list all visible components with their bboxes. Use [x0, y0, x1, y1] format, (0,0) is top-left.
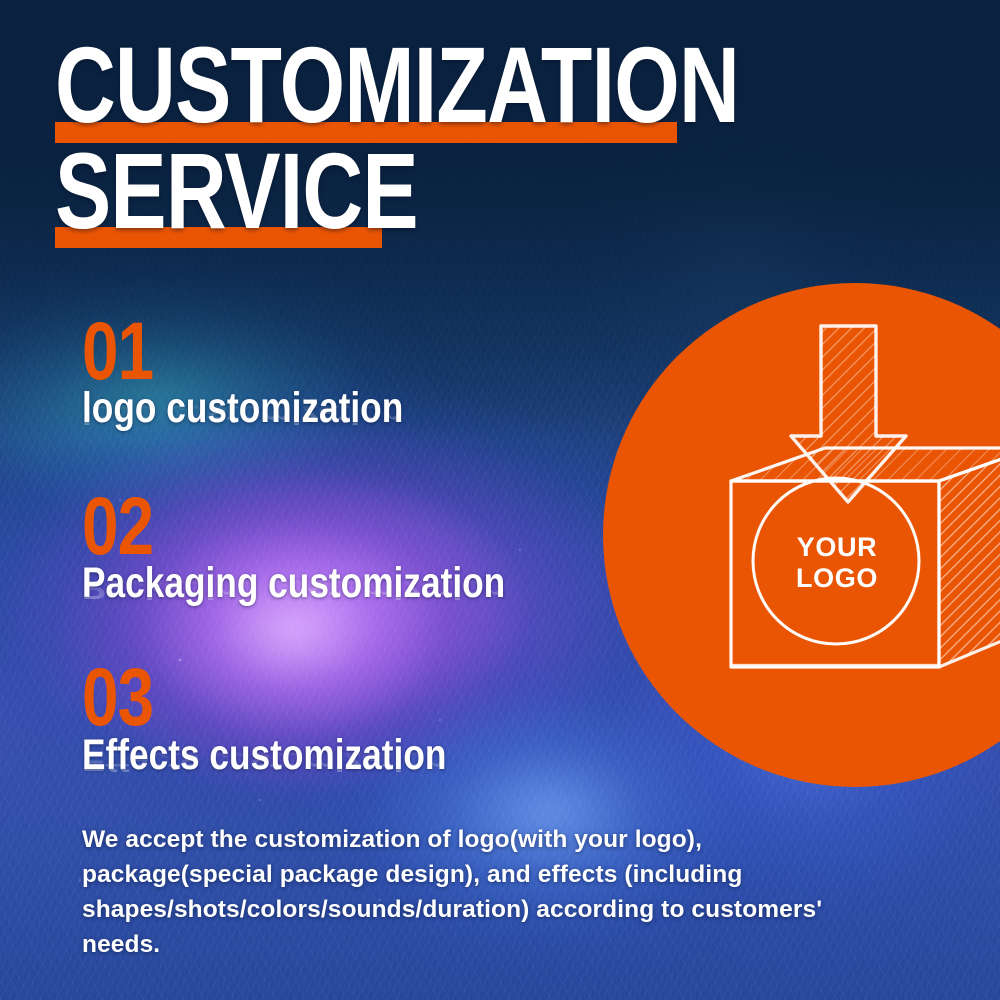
item-number-03: 03 [82, 664, 578, 731]
item-label-03: Effects customization [82, 734, 446, 778]
customization-service-poster: CUSTOMIZATION SERVICE 01 logo customizat… [0, 0, 1000, 1000]
your-logo-line-1: YOUR [763, 532, 911, 563]
list-item: 01 logo customization logo customization [82, 318, 702, 431]
your-logo-text: YOUR LOGO [763, 532, 911, 595]
title-line-1-row: CUSTOMIZATION [55, 48, 755, 140]
item-label-02: Packaging customization [82, 562, 505, 606]
item-number-01: 01 [82, 318, 578, 385]
item-label-wrap-03: Effects customization Effects customizat… [82, 734, 702, 778]
item-label-wrap-01: logo customization logo customization [82, 387, 702, 431]
title-line-1: CUSTOMIZATION [55, 39, 739, 132]
your-logo-line-2: LOGO [763, 563, 911, 594]
title-line-2: SERVICE [55, 145, 418, 238]
list-item: 03 Effects customization Effects customi… [82, 664, 702, 777]
title-line-2-row: SERVICE [55, 148, 755, 240]
item-number-02: 02 [82, 493, 578, 560]
description-paragraph: We accept the customization of logo(with… [82, 822, 872, 962]
item-label-01: logo customization [82, 387, 403, 431]
page-title: CUSTOMIZATION SERVICE [55, 48, 755, 240]
